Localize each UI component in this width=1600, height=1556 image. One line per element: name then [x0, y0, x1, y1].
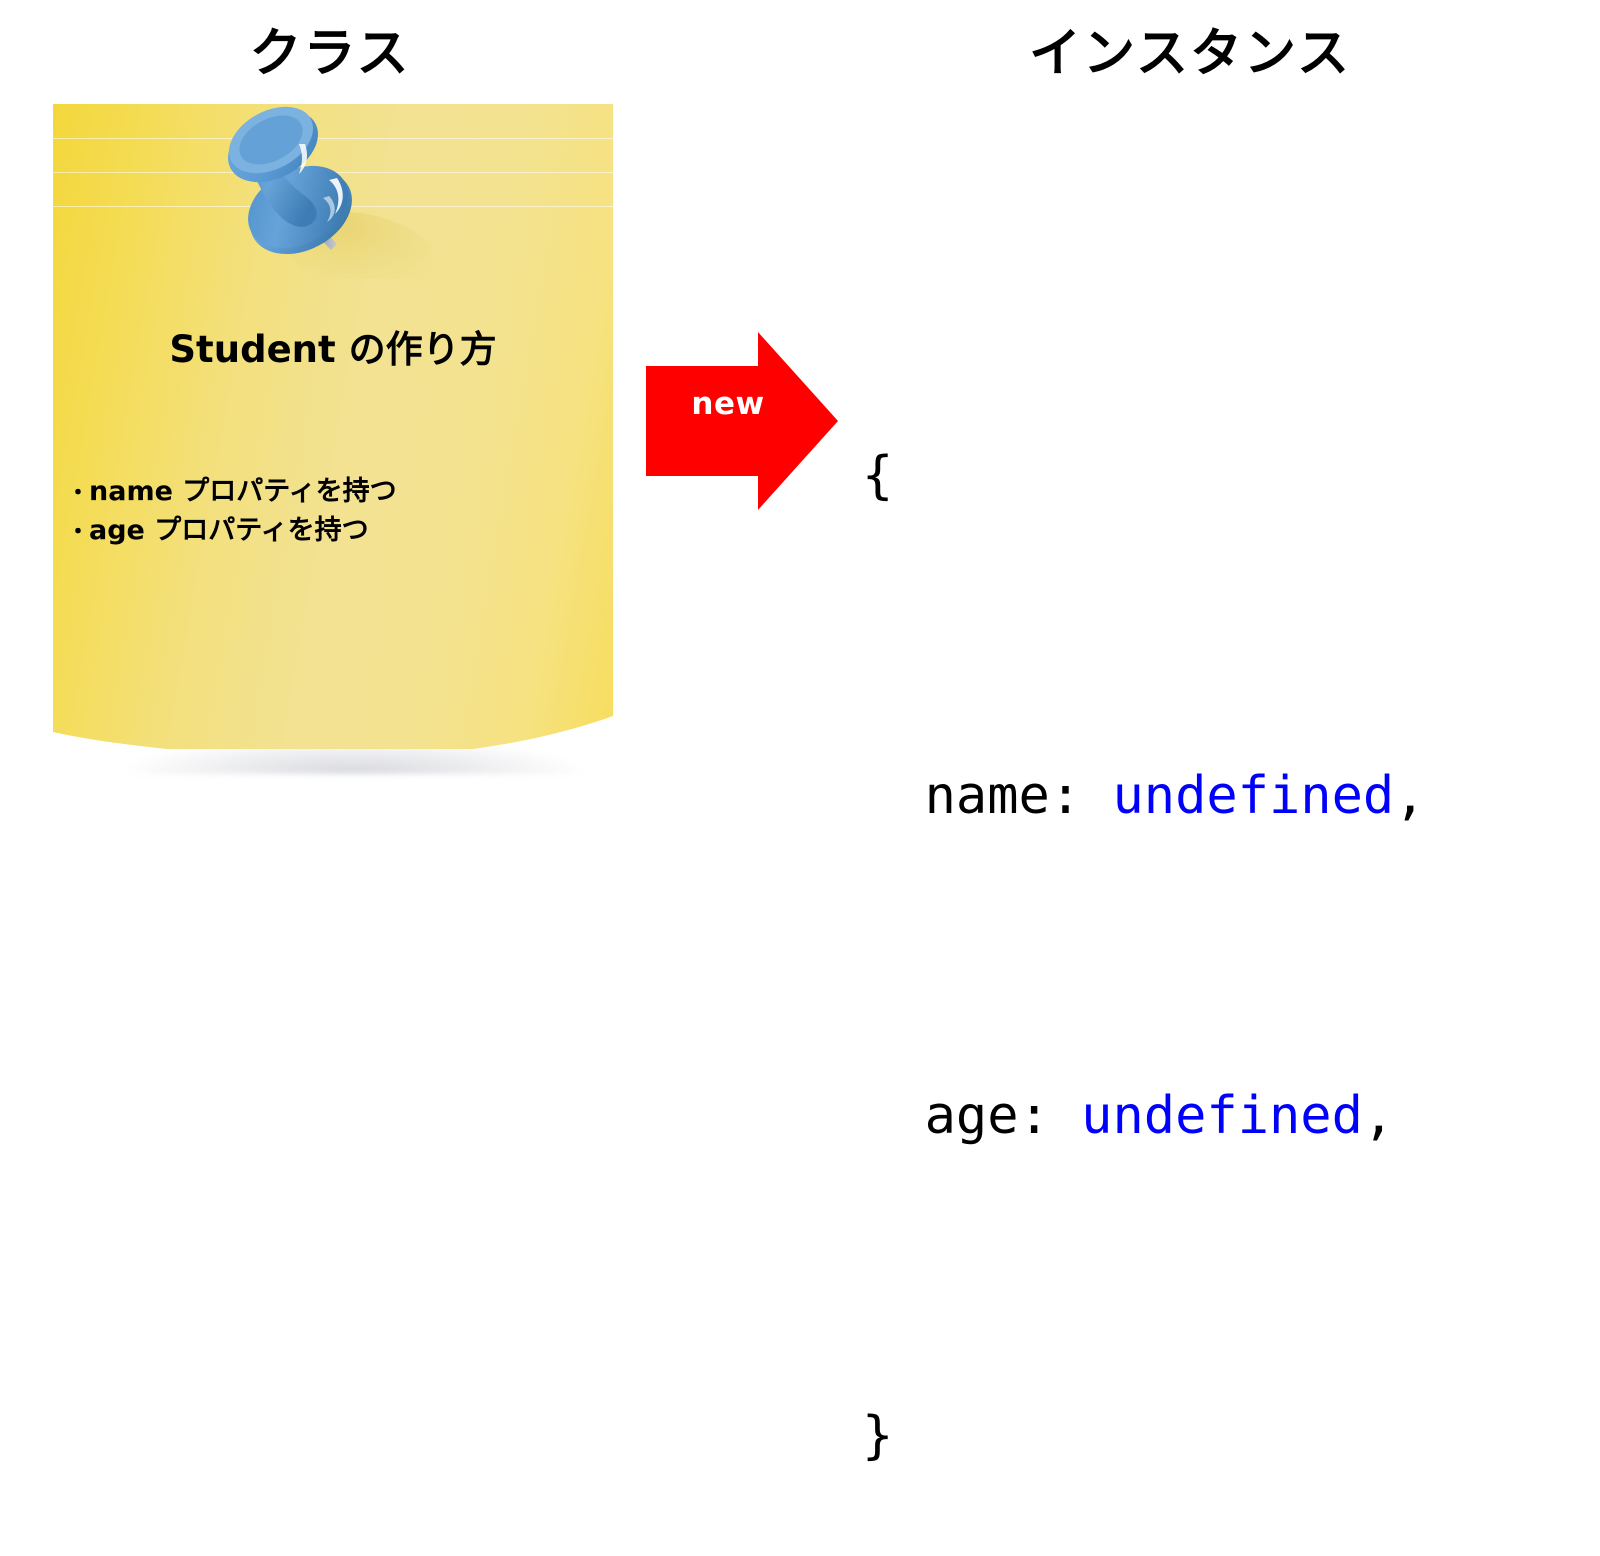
code-token-key: age:	[862, 1086, 1081, 1146]
sticky-note: Student の作り方 ・ name プロパティを持つ ・ age プロパティ…	[53, 104, 615, 776]
list-item: ・ age プロパティを持つ	[67, 511, 613, 550]
pushpin-icon	[213, 104, 433, 279]
code-line-age: age: undefined,	[862, 1076, 1426, 1156]
code-line-close-brace: }	[862, 1396, 1426, 1476]
code-token-comma: ,	[1394, 766, 1425, 826]
list-item: ・ name プロパティを持つ	[67, 472, 613, 511]
bullet-marker-icon: ・	[67, 517, 89, 549]
note-bullet-list: ・ name プロパティを持つ ・ age プロパティを持つ	[67, 472, 613, 550]
code-token-comma: ,	[1363, 1086, 1394, 1146]
list-item-label: age プロパティを持つ	[89, 511, 369, 550]
code-line-open-brace: {	[862, 436, 1426, 516]
code-block: { name: undefined, age: undefined, }	[862, 276, 1426, 1556]
code-token-value: undefined	[1112, 766, 1394, 826]
page-title-instance: インスタンス	[840, 28, 1540, 80]
note-title: Student の作り方	[53, 319, 613, 373]
code-token-value: undefined	[1081, 1086, 1363, 1146]
page-title-class: クラス	[0, 28, 660, 80]
code-token-brace: {	[862, 446, 893, 506]
code-token-brace: }	[862, 1406, 893, 1466]
arrow-label: new	[668, 386, 788, 422]
bullet-marker-icon: ・	[67, 478, 89, 510]
code-token-key: name:	[862, 766, 1112, 826]
code-line-name: name: undefined,	[862, 756, 1426, 836]
list-item-label: name プロパティを持つ	[89, 472, 397, 511]
